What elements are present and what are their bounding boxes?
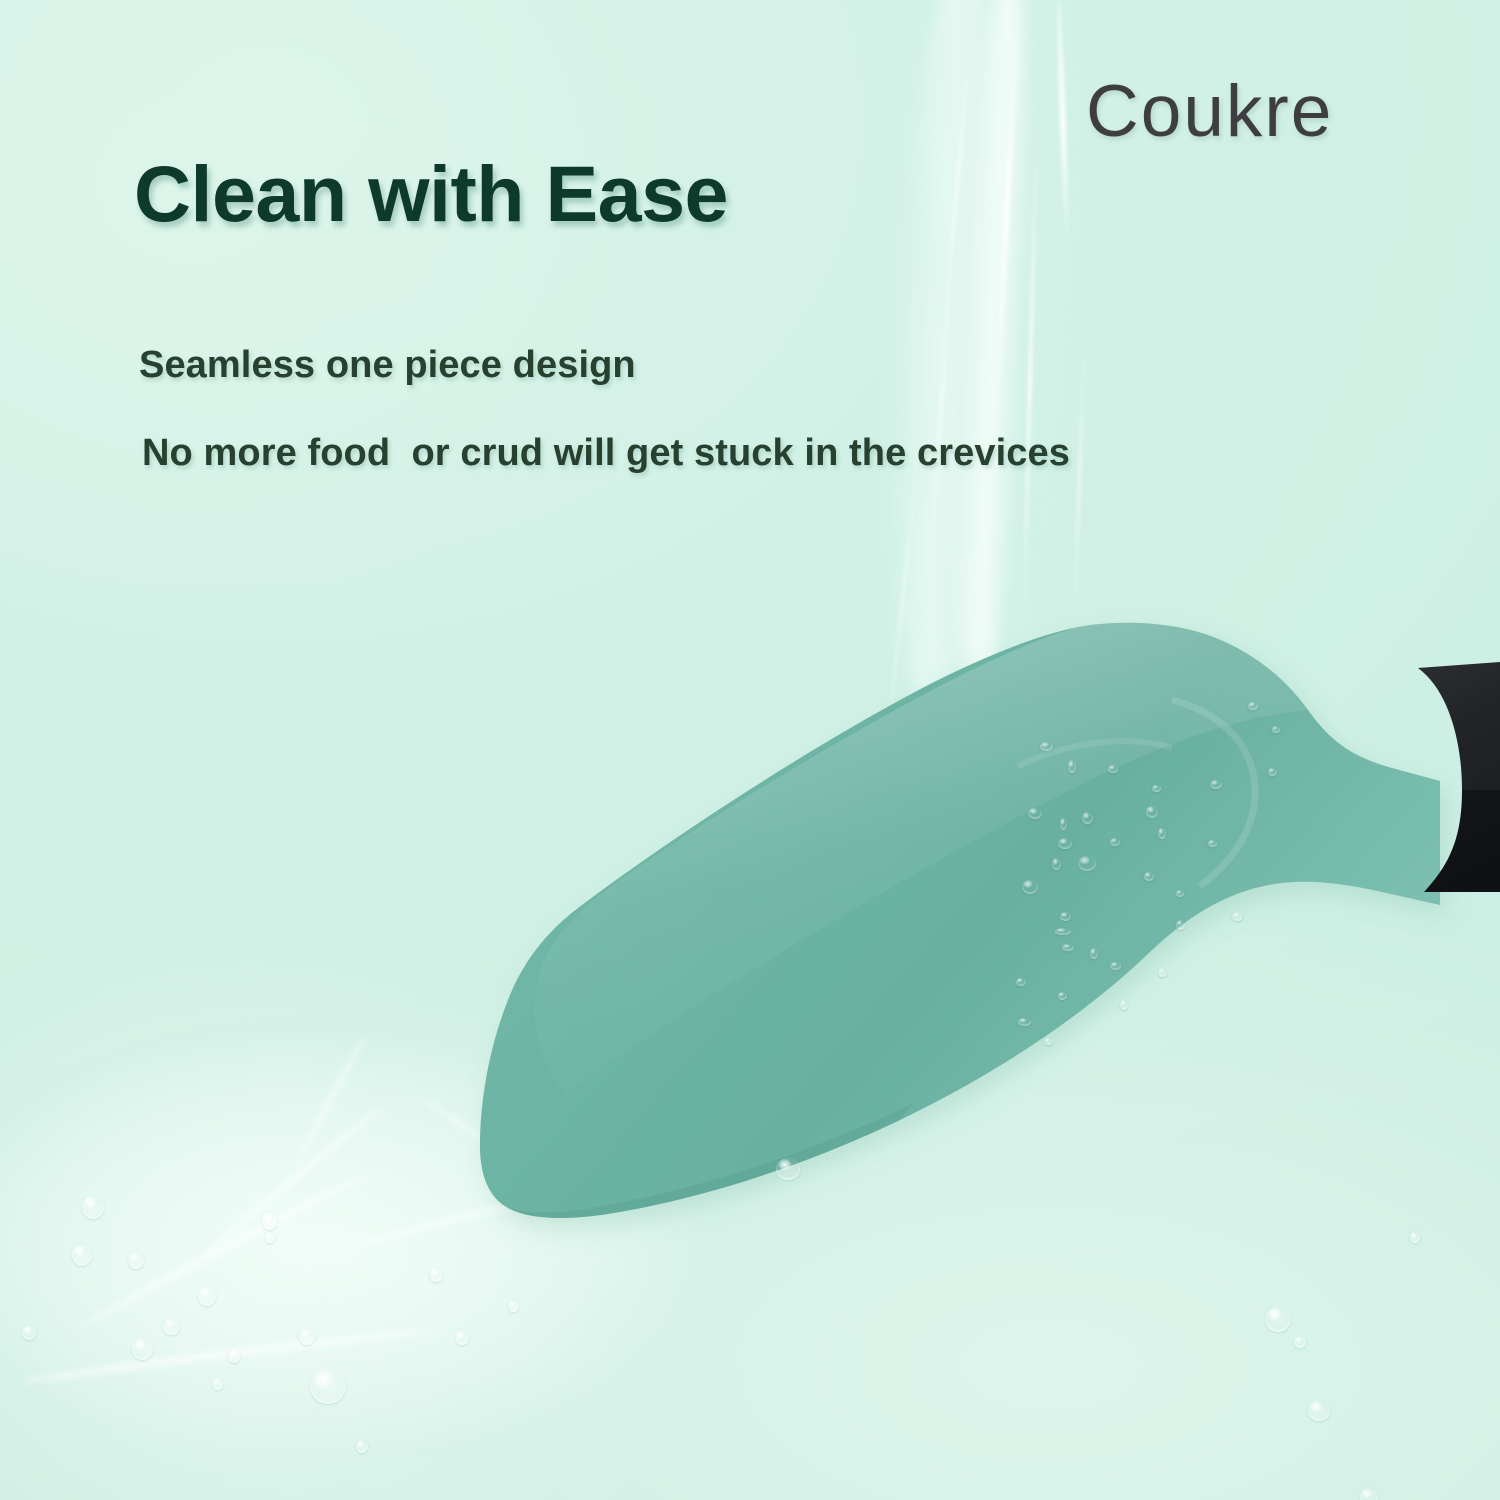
water-droplet — [508, 1300, 519, 1312]
water-droplet — [1410, 1232, 1420, 1243]
water-droplet — [128, 1252, 144, 1269]
product-banner: Coukre Clean with Ease Seamless one piec… — [0, 0, 1500, 1500]
water-droplet — [1360, 1488, 1378, 1500]
water-droplet — [82, 1195, 104, 1219]
water-droplet — [198, 1286, 216, 1306]
water-droplet — [22, 1325, 36, 1340]
water-droplet — [1208, 840, 1217, 847]
subheading-2: No more food or crud will get stuck in t… — [142, 432, 1070, 475]
subheading-1: Seamless one piece design — [139, 344, 636, 387]
water-droplet — [1146, 806, 1158, 818]
water-stream — [847, 0, 1120, 725]
water-droplet — [1294, 1336, 1306, 1348]
water-droplet — [1090, 948, 1098, 959]
water-droplet — [356, 1440, 368, 1453]
water-droplet — [1268, 768, 1277, 776]
water-droplet — [1062, 944, 1074, 951]
water-droplet — [1058, 838, 1072, 849]
water-droplet — [1044, 1038, 1053, 1045]
water-droplet — [1158, 828, 1166, 839]
water-droplet — [1052, 858, 1061, 870]
water-droplet — [299, 1328, 315, 1345]
water-droplet-hanging — [776, 1158, 800, 1180]
background-highlight-top-left — [0, 0, 930, 675]
water-droplet — [1055, 928, 1071, 935]
water-droplet — [163, 1318, 180, 1335]
water-droplet — [1022, 880, 1038, 894]
water-droplet — [1120, 1000, 1128, 1010]
water-droplet — [262, 1212, 277, 1230]
water-droplet — [1058, 992, 1067, 1000]
water-droplet — [1152, 785, 1161, 792]
water-droplet — [212, 1378, 223, 1390]
water-droplet — [1210, 780, 1222, 789]
water-droplet — [1078, 856, 1096, 871]
water-droplet — [1060, 818, 1067, 830]
water-droplet — [228, 1348, 241, 1363]
water-droplet — [1028, 808, 1042, 819]
water-droplet — [1110, 838, 1120, 846]
water-droplet — [265, 1232, 275, 1243]
water-droplet — [1176, 920, 1185, 930]
water-droplet — [430, 1268, 443, 1282]
water-droplet — [1108, 765, 1118, 773]
water-droplet — [1232, 912, 1243, 921]
water-droplet — [1248, 702, 1258, 710]
water-droplet — [1068, 760, 1076, 773]
page-title: Clean with Ease — [134, 148, 728, 240]
water-droplet — [1176, 890, 1184, 897]
water-droplet — [1082, 812, 1093, 824]
water-droplet — [1265, 1306, 1291, 1332]
water-droplet — [1308, 1400, 1330, 1421]
water-droplet — [1272, 726, 1280, 733]
brand-name: Coukre — [1086, 70, 1333, 153]
water-droplet — [132, 1338, 153, 1360]
water-droplet — [1060, 912, 1071, 921]
water-droplet — [1040, 742, 1053, 751]
water-droplet — [1016, 978, 1026, 986]
water-droplet — [72, 1244, 92, 1266]
water-droplet — [1158, 968, 1167, 977]
water-splash — [0, 1010, 780, 1500]
water-droplet — [1144, 872, 1154, 881]
water-droplet — [455, 1330, 469, 1345]
water-droplet — [1110, 962, 1121, 970]
water-droplet — [1018, 1018, 1031, 1026]
water-droplet — [310, 1368, 346, 1404]
